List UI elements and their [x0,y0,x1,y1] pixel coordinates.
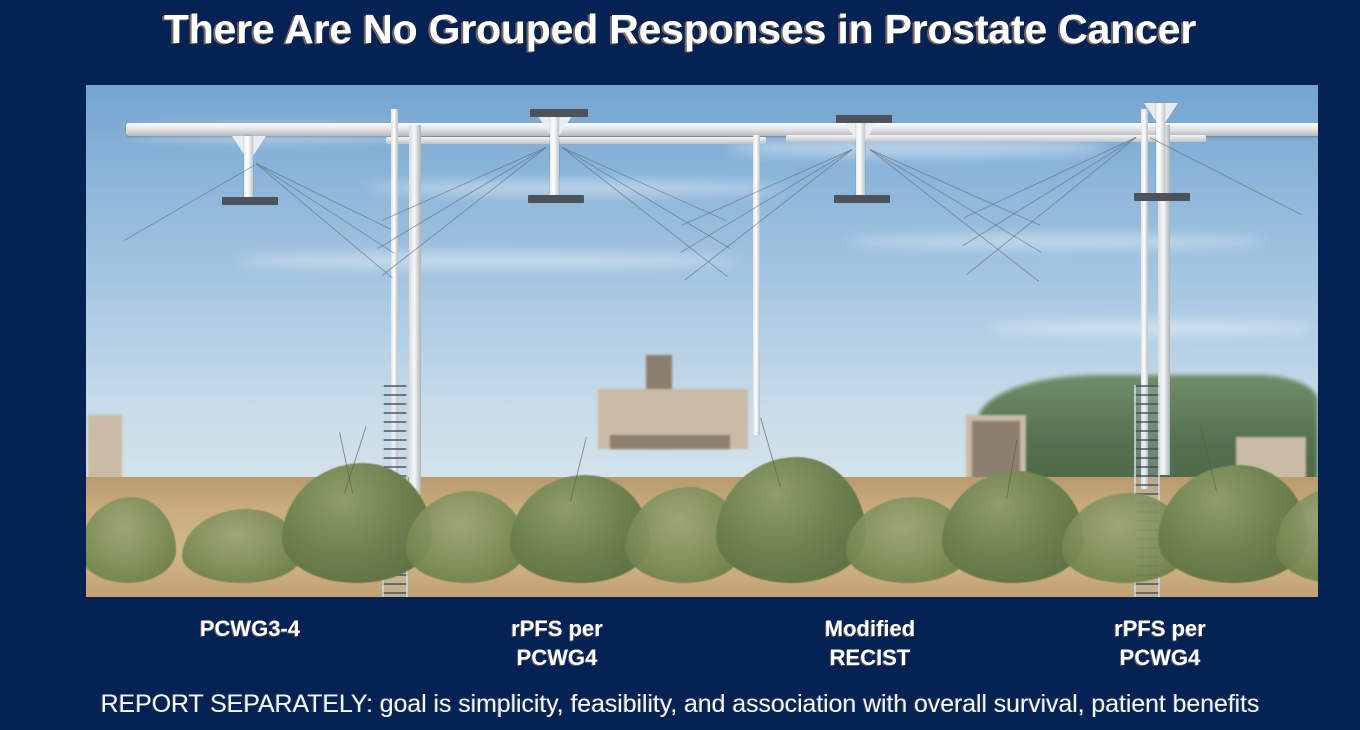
roof-peak-cap [836,115,892,123]
cloud-streak [986,321,1316,335]
silos-photograph: PSA / Serum Biomarkers [86,85,1318,597]
background-building [610,435,730,449]
caption-line1: PCWG3-4 [135,614,365,643]
conveyor-support-post [753,135,760,435]
footer-note: REPORT SEPARATELY: goal is simplicity, f… [0,690,1360,719]
caption-line1: rPFS per [1045,614,1275,643]
conveyor-drop-tube [550,116,559,196]
conveyor-drop-tube [1156,103,1165,195]
roof-peak-cap [1134,193,1190,201]
caption-line2: RECIST [755,643,985,672]
caption-line1: rPFS per [442,614,672,643]
roof-peak-cap [834,195,890,203]
roof-peak-cap [528,195,584,203]
roof-peak-cap [530,109,588,117]
caption-psa-serum-biomarkers: PCWG3-4 [135,614,365,643]
cloud-streak [366,181,786,195]
caption-line2: PCWG4 [1045,643,1275,672]
conveyor-pipe-segment [386,137,766,144]
page-title: There Are No Grouped Responses in Prosta… [0,6,1360,53]
caption-line2: PCWG4 [442,643,672,672]
caption-bone-scintigraphy: rPFS per PCWG4 [442,614,672,673]
conveyor-drop-tube [856,121,865,197]
caption-molecular-imaging: rPFS per PCWG4 [1045,614,1275,673]
conveyor-leg-pipe [409,125,421,495]
caption-line1: Modified [755,614,985,643]
slide-root: There Are No Grouped Responses in Prosta… [0,0,1360,730]
roof-peak-cap [222,197,278,205]
cloud-streak [846,235,1266,248]
caption-anatomic-imaging: Modified RECIST [755,614,985,673]
cloud-streak [236,253,736,268]
